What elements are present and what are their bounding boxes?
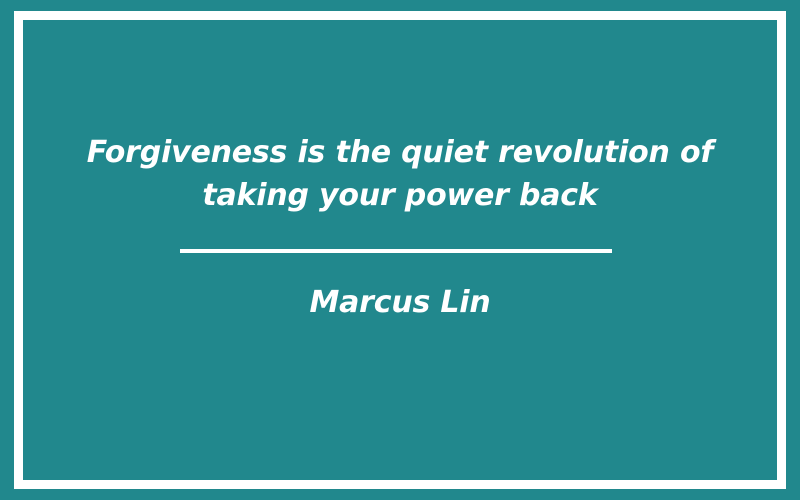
card-content: Forgiveness is the quiet revolution of t… xyxy=(0,0,800,500)
quote-text: Forgiveness is the quiet revolution of t… xyxy=(55,131,745,217)
quote-card: Forgiveness is the quiet revolution of t… xyxy=(0,0,800,500)
quote-divider xyxy=(180,249,612,253)
quote-author-name: Marcus Lin xyxy=(100,284,700,322)
